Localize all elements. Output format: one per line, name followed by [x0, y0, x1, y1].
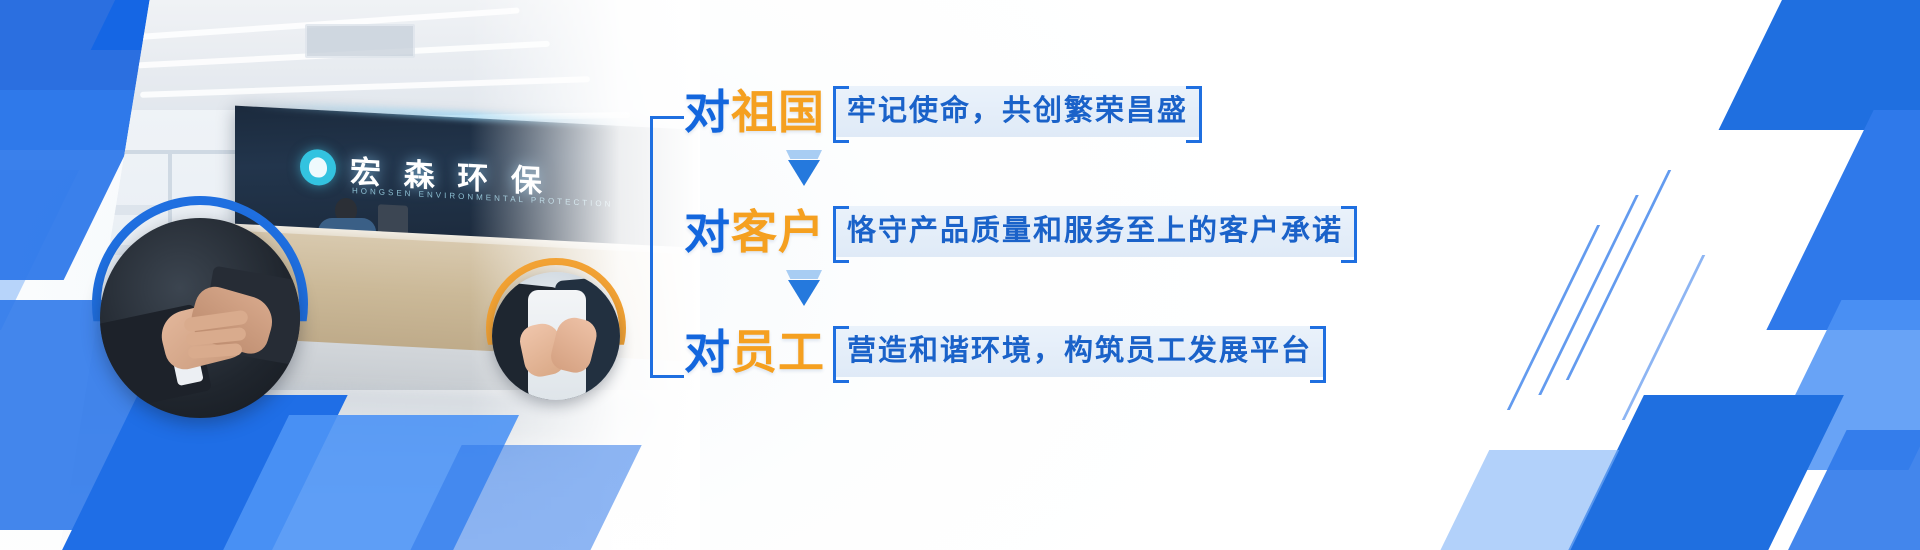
connector-bracket [650, 116, 684, 378]
applause-image [492, 272, 620, 400]
decor-line-2 [1538, 195, 1639, 395]
values-list: 对 祖国 牢记使命，共创繁荣昌盛 对 客户 恪守产品质量和服务至上的客户承诺 对… [650, 78, 1410, 408]
leaf-globe-icon [300, 148, 336, 186]
statement-box: 恪守产品质量和服务至上的客户承诺 [833, 206, 1357, 257]
arrow-down-icon [786, 150, 822, 186]
value-row-country: 对 祖国 牢记使命，共创繁荣昌盛 [684, 86, 1202, 137]
row-label-prefix: 对 [684, 209, 731, 255]
handshake-image [100, 218, 300, 418]
row-label-key: 祖国 [731, 89, 825, 135]
value-row-customer: 对 客户 恪守产品质量和服务至上的客户承诺 [684, 206, 1357, 257]
statement-box: 营造和谐环境，构筑员工发展平台 [833, 326, 1326, 377]
statement-text: 营造和谐环境，构筑员工发展平台 [847, 333, 1312, 369]
arrow-triangle-2 [788, 280, 820, 306]
row-label-prefix: 对 [684, 329, 731, 375]
statement-box: 牢记使命，共创繁荣昌盛 [833, 86, 1202, 137]
value-row-employee: 对 员工 营造和谐环境，构筑员工发展平台 [684, 326, 1326, 377]
decor-line-3 [1507, 225, 1600, 410]
handshake-photo [100, 218, 300, 418]
arrow-cap-2 [786, 270, 822, 279]
arrow-triangle-1 [788, 160, 820, 186]
decor-shape-right-2 [1766, 110, 1920, 330]
statement-text: 恪守产品质量和服务至上的客户承诺 [847, 213, 1343, 249]
arrow-down-icon [786, 270, 822, 306]
arrow-cap-1 [786, 150, 822, 159]
row-label-prefix: 对 [684, 89, 731, 135]
row-label-key: 客户 [731, 209, 825, 255]
ceiling-vent [305, 24, 415, 58]
statement-text: 牢记使命，共创繁荣昌盛 [847, 93, 1188, 129]
company-values-banner: 宏 森 环 保 HONGSEN ENVIRONMENTAL PROTECTION [0, 0, 1920, 550]
applause-photo [492, 272, 620, 400]
row-label-key: 员工 [731, 329, 825, 375]
